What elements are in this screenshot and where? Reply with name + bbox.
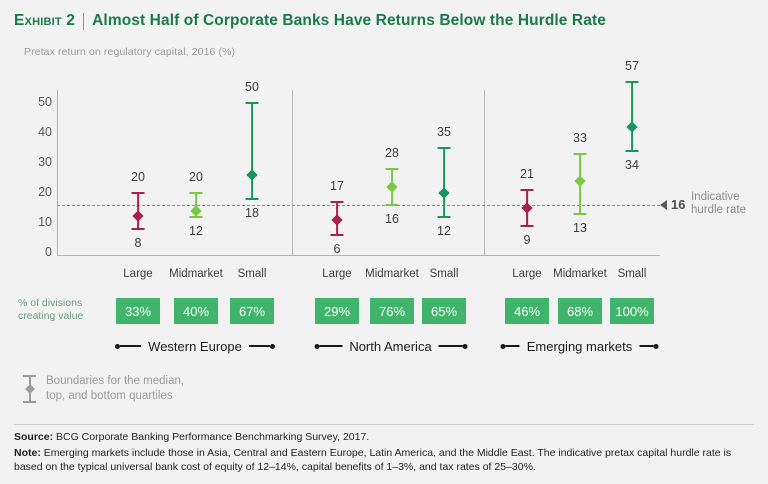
legend-line-1: Boundaries for the median,	[46, 374, 184, 389]
chart-plot-area: 01020304050 16Indicativehurdle rate 2082…	[0, 0, 768, 300]
median-marker	[626, 121, 637, 132]
category-label-midmarket: Midmarket	[365, 268, 419, 280]
top-quartile-value: 17	[330, 179, 344, 193]
pct-badge-north-america-midmarket: 76%	[370, 298, 414, 324]
top-cap	[521, 189, 534, 191]
y-axis-ticks: 01020304050	[18, 0, 52, 300]
group-divider-1	[292, 90, 293, 255]
pct-badge-western-europe-small: 67%	[230, 298, 274, 324]
bracket-line-left	[506, 345, 520, 346]
category-label-midmarket: Midmarket	[553, 268, 607, 280]
bottom-quartile-value: 12	[189, 224, 203, 238]
pct-badge-emerging-markets-large: 46%	[505, 298, 549, 324]
y-tick-label-10: 10	[26, 215, 52, 229]
top-cap	[246, 102, 259, 104]
top-cap	[386, 168, 399, 170]
bracket-line-right	[639, 345, 653, 346]
bottom-quartile-value: 9	[524, 233, 531, 247]
y-tick-label-50: 50	[26, 95, 52, 109]
top-quartile-value: 57	[625, 59, 639, 73]
top-cap	[574, 153, 587, 155]
y-tick-label-20: 20	[26, 185, 52, 199]
top-quartile-value: 21	[520, 167, 534, 181]
bottom-cap	[574, 213, 587, 215]
footer-notes: Source: BCG Corporate Banking Performanc…	[14, 430, 759, 476]
top-quartile-value: 20	[189, 170, 203, 184]
note-label: Note:	[14, 447, 41, 459]
bottom-cap	[246, 198, 259, 200]
error-bar-icon	[23, 373, 37, 405]
pct-badge-north-america-small: 65%	[422, 298, 466, 324]
bottom-cap	[132, 228, 145, 230]
median-marker	[331, 214, 342, 225]
category-label-large: Large	[512, 268, 541, 280]
y-tick-label-30: 30	[26, 155, 52, 169]
group-divider-2	[484, 90, 485, 255]
bracket-line-right	[249, 345, 270, 346]
bracket-line-left	[319, 345, 342, 346]
median-marker	[190, 205, 201, 216]
pct-badge-north-america-large: 29%	[315, 298, 359, 324]
bracket-dot-right	[270, 344, 275, 349]
top-quartile-value: 20	[131, 170, 145, 184]
bottom-cap	[331, 234, 344, 236]
note-line: Note: Emerging markets include those in …	[14, 446, 759, 475]
category-label-large: Large	[322, 268, 351, 280]
top-cap	[190, 192, 203, 194]
chart-legend: Boundaries for the median, top, and bott…	[18, 372, 278, 406]
category-label-small: Small	[430, 268, 459, 280]
quartile-range-line	[631, 82, 633, 151]
category-label-small: Small	[238, 268, 267, 280]
legend-text: Boundaries for the median, top, and bott…	[46, 374, 184, 403]
hurdle-rate-label: Indicativehurdle rate	[691, 191, 746, 217]
bottom-quartile-value: 13	[573, 221, 587, 235]
bracket-dot-right	[653, 344, 658, 349]
source-line: Source: BCG Corporate Banking Performanc…	[14, 430, 759, 445]
hurdle-label-line-2: hurdle rate	[691, 204, 746, 217]
bottom-quartile-value: 6	[334, 242, 341, 256]
group-label: North America	[342, 339, 438, 354]
top-cap	[626, 81, 639, 83]
bottom-quartile-value: 34	[625, 158, 639, 172]
source-text: BCG Corporate Banking Performance Benchm…	[56, 431, 369, 443]
median-marker	[132, 210, 143, 221]
group-bracket-western-europe: Western Europe	[115, 338, 275, 354]
y-axis-line	[57, 90, 58, 255]
bottom-cap	[626, 150, 639, 152]
category-label-small: Small	[618, 268, 647, 280]
group-label: Emerging markets	[520, 339, 639, 354]
top-quartile-value: 35	[437, 125, 451, 139]
bracket-line-left	[120, 345, 141, 346]
median-marker	[386, 181, 397, 192]
hurdle-label-line-1: Indicative	[691, 191, 746, 204]
y-tick-label-0: 0	[26, 245, 52, 259]
hurdle-arrow-icon	[660, 200, 667, 210]
bottom-quartile-value: 16	[385, 212, 399, 226]
pct-caption-line-2: creating value	[18, 310, 110, 323]
top-cap	[331, 201, 344, 203]
pct-caption-line-1: % of divisions	[18, 297, 110, 310]
top-quartile-value: 33	[573, 131, 587, 145]
quartile-range-line	[251, 103, 253, 199]
note-text: Emerging markets include those in Asia, …	[14, 447, 731, 474]
pct-badge-western-europe-midmarket: 40%	[174, 298, 218, 324]
bottom-cap	[386, 204, 399, 206]
pct-creating-value-caption: % of divisions creating value	[18, 297, 110, 323]
median-marker	[438, 187, 449, 198]
group-bracket-emerging-markets: Emerging markets	[504, 338, 655, 354]
bottom-cap	[438, 216, 451, 218]
hurdle-rate-line	[57, 205, 660, 206]
exhibit-container: Exhibit 2 Almost Half of Corporate Banks…	[0, 0, 768, 484]
source-label: Source:	[14, 431, 53, 443]
hurdle-rate-value: 16	[671, 197, 685, 212]
y-tick-label-40: 40	[26, 125, 52, 139]
bottom-quartile-value: 18	[245, 206, 259, 220]
median-marker	[246, 169, 257, 180]
category-label-midmarket: Midmarket	[169, 268, 223, 280]
pct-badge-western-europe-large: 33%	[116, 298, 160, 324]
footer-divider	[14, 424, 754, 425]
top-cap	[438, 147, 451, 149]
bottom-cap	[521, 225, 534, 227]
bottom-quartile-value: 12	[437, 224, 451, 238]
x-axis-line	[57, 255, 660, 256]
legend-line-2: top, and bottom quartiles	[46, 389, 184, 404]
bottom-quartile-value: 8	[135, 236, 142, 250]
top-cap	[132, 192, 145, 194]
pct-badge-emerging-markets-midmarket: 68%	[558, 298, 602, 324]
bracket-dot-right	[462, 344, 467, 349]
median-marker	[574, 175, 585, 186]
pct-badge-emerging-markets-small: 100%	[610, 298, 654, 324]
quartile-range-line	[443, 148, 445, 217]
group-label: Western Europe	[141, 339, 249, 354]
bracket-line-right	[439, 345, 462, 346]
category-label-large: Large	[123, 268, 152, 280]
top-quartile-value: 28	[385, 146, 399, 160]
top-quartile-value: 50	[245, 80, 259, 94]
group-bracket-north-america: North America	[314, 338, 467, 354]
